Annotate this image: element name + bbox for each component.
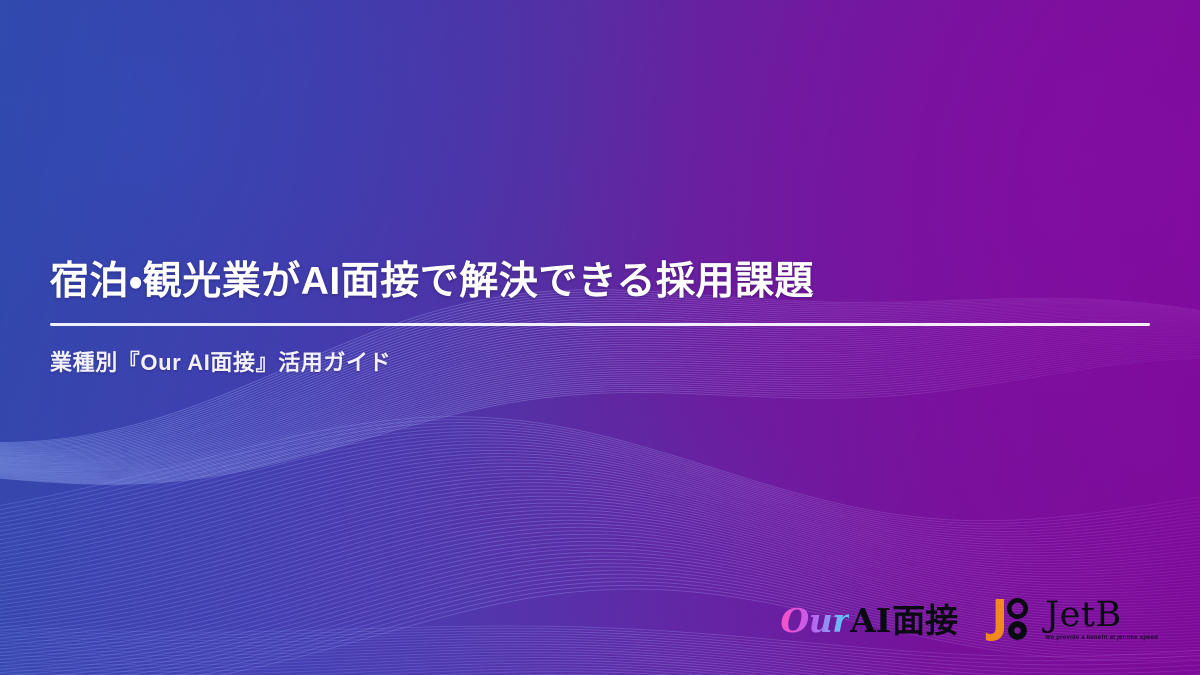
jetb-text-block: JetB We provide a benefit at jet-like sp… [1045, 599, 1158, 642]
logo-word-ai: AI [850, 604, 891, 637]
slide-content: 宿泊・観光業がAI面接で解決できる採用課題 業種別『Our AI面接』活用ガイド [50, 258, 1150, 377]
title-slide: 宿泊・観光業がAI面接で解決できる採用課題 業種別『Our AI面接』活用ガイド… [0, 0, 1200, 675]
jetb-tagline: We provide a benefit at jet-like speed [1045, 635, 1158, 641]
jetb-logo: JetB We provide a benefit at jet-like sp… [984, 597, 1158, 643]
jetb-mark-icon [984, 597, 1036, 643]
logo-word-our: Our [780, 604, 849, 637]
logo-word-mensetsu: 面接 [892, 604, 958, 637]
our-ai-mensetsu-logo: Our AI 面接 [780, 604, 958, 637]
jetb-wordmark: JetB [1045, 599, 1122, 633]
page-title: 宿泊・観光業がAI面接で解決できる採用課題 [50, 258, 1150, 306]
page-subtitle: 業種別『Our AI面接』活用ガイド [50, 326, 1150, 377]
logo-cluster: Our AI 面接 JetB We provide a benefit at j… [780, 597, 1158, 643]
